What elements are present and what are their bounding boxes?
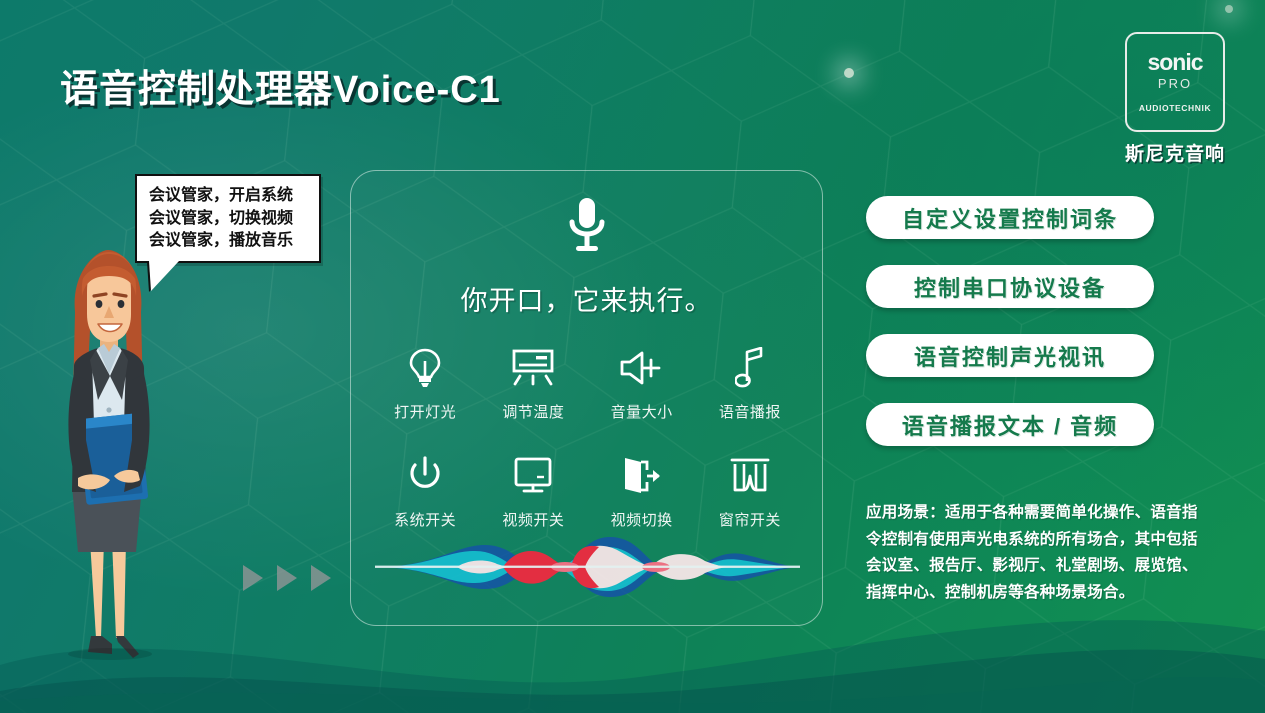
application-scenario-text: 应用场景：适用于各种需要简单化操作、语音指令控制有使用声光电系统的所有场合，其中… (866, 500, 1206, 607)
badge-label: 语音控制声光视讯 (914, 340, 1106, 372)
panel-headline: 你开口，它来执行。 (351, 279, 822, 318)
businesswoman-illustration (38, 240, 178, 670)
feature-row-1: 打开灯光 调节温度 (371, 346, 804, 422)
feature-grid: 打开灯光 调节温度 (371, 346, 804, 530)
microphone-icon-wrap (351, 196, 822, 256)
badge-voice-av-control[interactable]: 语音控制声光视讯 (866, 334, 1154, 377)
logo-text-sonic: sonic (1147, 51, 1202, 74)
video-switch-icon (621, 454, 663, 498)
lightbulb-icon (408, 346, 442, 390)
light-glow-dot-secondary (1225, 5, 1233, 13)
feature-item-voice-broadcast[interactable]: 语音播报 (696, 346, 804, 422)
badge-voice-broadcast[interactable]: 语音播报文本 / 音频 (866, 403, 1154, 446)
badge-label: 自定义设置控制词条 (902, 202, 1118, 234)
poster-canvas: 语音控制处理器Voice-C1 sonic PRO AUDIOTECHNIK 斯… (0, 0, 1265, 713)
feature-label: 窗帘开关 (719, 509, 781, 530)
play-arrow-icon (243, 565, 263, 591)
air-conditioner-icon (511, 346, 555, 390)
page-title: 语音控制处理器Voice-C1 (60, 58, 501, 113)
monitor-icon (513, 454, 553, 498)
feature-panel: 你开口，它来执行。 打开灯光 (350, 170, 823, 626)
feature-item-video-power[interactable]: 视频开关 (479, 454, 587, 530)
logo-text-chinese: 斯尼克音响 (1125, 139, 1225, 166)
feature-label: 调节温度 (502, 401, 564, 422)
feature-label: 打开灯光 (394, 401, 456, 422)
power-icon (406, 454, 444, 498)
badge-label: 控制串口协议设备 (914, 271, 1106, 303)
feature-row-2: 系统开关 视频开关 (371, 454, 804, 530)
feature-item-curtain[interactable]: 窗帘开关 (696, 454, 804, 530)
brand-logo: sonic PRO AUDIOTECHNIK 斯尼克音响 (1125, 32, 1225, 166)
feature-item-light[interactable]: 打开灯光 (371, 346, 479, 422)
feature-item-temperature[interactable]: 调节温度 (479, 346, 587, 422)
voice-waveform (375, 531, 800, 603)
curtain-icon (730, 454, 770, 498)
feature-badge-list: 自定义设置控制词条 控制串口协议设备 语音控制声光视讯 语音播报文本 / 音频 (866, 196, 1154, 472)
logo-text-audiotechnik: AUDIOTECHNIK (1139, 103, 1211, 113)
badge-serial-protocol[interactable]: 控制串口协议设备 (866, 265, 1154, 308)
feature-label: 视频开关 (502, 509, 564, 530)
volume-up-icon (618, 346, 666, 390)
feature-item-volume[interactable]: 音量大小 (588, 346, 696, 422)
logo-text-pro: PRO (1158, 76, 1192, 91)
play-arrow-icon (311, 565, 331, 591)
light-glow-dot (844, 68, 854, 78)
feature-label: 语音播报 (719, 401, 781, 422)
badge-custom-commands[interactable]: 自定义设置控制词条 (866, 196, 1154, 239)
feature-label: 音量大小 (611, 401, 673, 422)
music-note-icon (735, 346, 765, 390)
speech-bubble-line-2: 会议管家，切换视频 (149, 208, 309, 231)
feature-item-system-power[interactable]: 系统开关 (371, 454, 479, 530)
play-arrow-icon (277, 565, 297, 591)
badge-label: 语音播报文本 / 音频 (902, 409, 1118, 441)
play-arrows-group (243, 565, 331, 591)
speech-bubble-line-1: 会议管家，开启系统 (149, 185, 309, 208)
logo-box: sonic PRO AUDIOTECHNIK (1125, 32, 1225, 132)
feature-item-video-switch[interactable]: 视频切换 (588, 454, 696, 530)
feature-label: 视频切换 (611, 509, 673, 530)
feature-label: 系统开关 (394, 509, 456, 530)
microphone-icon (564, 196, 610, 256)
